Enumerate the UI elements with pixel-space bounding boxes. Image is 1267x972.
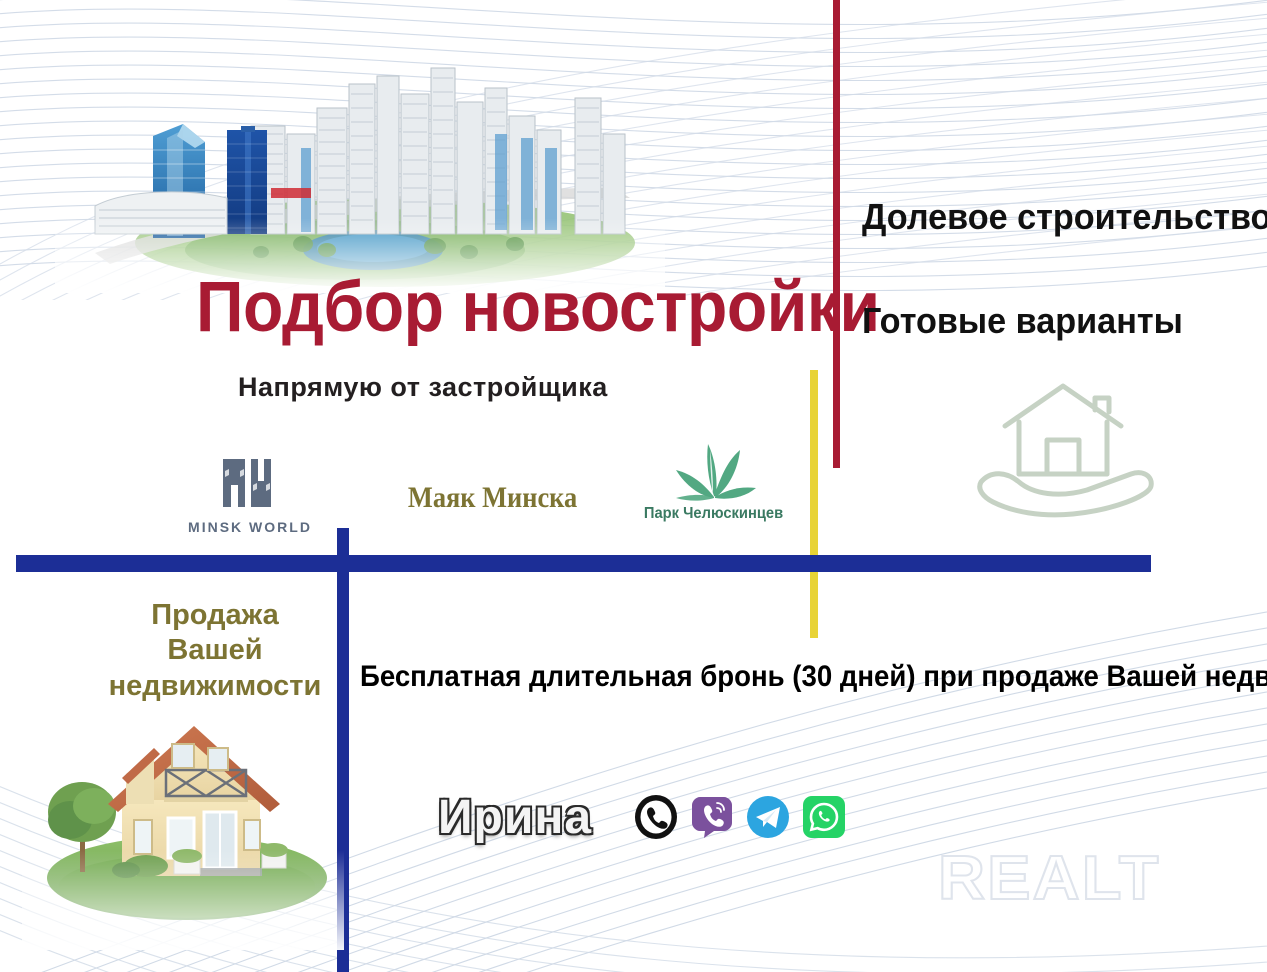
realt-watermark: REALT bbox=[938, 843, 1161, 914]
phone-icon[interactable] bbox=[634, 795, 678, 839]
cottage-photo bbox=[22, 700, 344, 950]
advertisement-banner: Подбор новостройки Напрямую от застройщи… bbox=[0, 0, 1267, 972]
free-reservation-banner: Бесплатная длительная бронь (30 дней) пр… bbox=[360, 660, 1267, 694]
developer-name: MINSK WORLD bbox=[176, 519, 324, 535]
resale-heading-line2: недвижимости bbox=[100, 669, 330, 704]
claim-ready-options: Готовые варианты bbox=[862, 300, 1183, 342]
divider-red-vertical bbox=[833, 0, 840, 468]
city-skyline-render bbox=[55, 38, 665, 293]
developer-logo-mayak-minska[interactable]: Маяк Минска bbox=[398, 481, 563, 515]
whatsapp-icon[interactable] bbox=[802, 795, 846, 839]
resale-heading: Продажа Вашей недвижимости bbox=[100, 598, 330, 704]
developer-name: Парк Челюскинцев bbox=[639, 505, 789, 523]
telegram-icon[interactable] bbox=[746, 795, 790, 839]
claim-shared-construction: Долевое строительство bbox=[862, 196, 1267, 238]
developer-name: Маяк Минска bbox=[408, 481, 553, 515]
agent-name: Ирина bbox=[438, 790, 592, 845]
messenger-icon-row bbox=[634, 795, 846, 839]
mw-monogram-icon bbox=[217, 455, 283, 513]
leaf-icon bbox=[664, 440, 764, 502]
resale-heading-line1: Продажа Вашей bbox=[100, 598, 330, 669]
divider-yellow-vertical bbox=[810, 370, 818, 638]
developer-logo-park-chelyuskintsev[interactable]: Парк Челюскинцев bbox=[632, 440, 795, 523]
developer-logo-minsk-world[interactable]: MINSK WORLD bbox=[176, 455, 324, 535]
divider-blue-horizontal bbox=[16, 555, 1151, 572]
page-title: Подбор новостройки bbox=[196, 272, 791, 343]
page-subtitle: Напрямую от застройщика bbox=[238, 372, 608, 403]
house-in-hand-icon bbox=[963, 378, 1178, 518]
viber-icon[interactable] bbox=[690, 795, 734, 839]
